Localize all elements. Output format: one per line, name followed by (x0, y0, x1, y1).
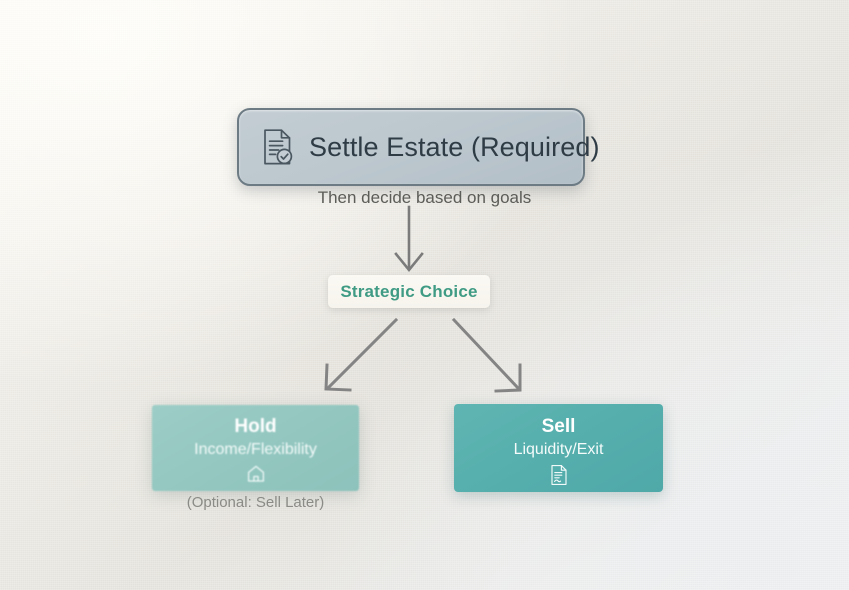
node-hold-subtitle: Income/Flexibility (194, 440, 317, 461)
diagram-canvas: Settle Estate (Required) Then decide bas… (0, 0, 849, 590)
node-sell[interactable]: Sell Liquidity/Exit (454, 404, 663, 492)
node-settle-estate-label: Settle Estate (Required) (309, 132, 600, 163)
hold-footnote: (Optional: Sell Later) (152, 494, 359, 511)
node-strategic-choice-label: Strategic Choice (340, 282, 477, 302)
arrow-down-right-icon (454, 320, 520, 391)
node-sell-subtitle: Liquidity/Exit (514, 440, 604, 461)
branch-arrows (300, 312, 550, 407)
signed-document-icon (549, 464, 569, 484)
node-hold[interactable]: Hold Income/Flexibility (152, 405, 359, 491)
node-hold-title: Hold (234, 416, 276, 438)
node-settle-estate[interactable]: Settle Estate (Required) (237, 108, 585, 186)
node-strategic-choice[interactable]: Strategic Choice (328, 275, 490, 308)
arrow-down-icon (360, 206, 470, 278)
arrow-down-left-icon (326, 320, 396, 390)
document-check-icon (261, 128, 295, 166)
node-sell-title: Sell (542, 416, 576, 438)
connector-caption: Then decide based on goals (0, 188, 849, 208)
house-icon (246, 464, 266, 484)
